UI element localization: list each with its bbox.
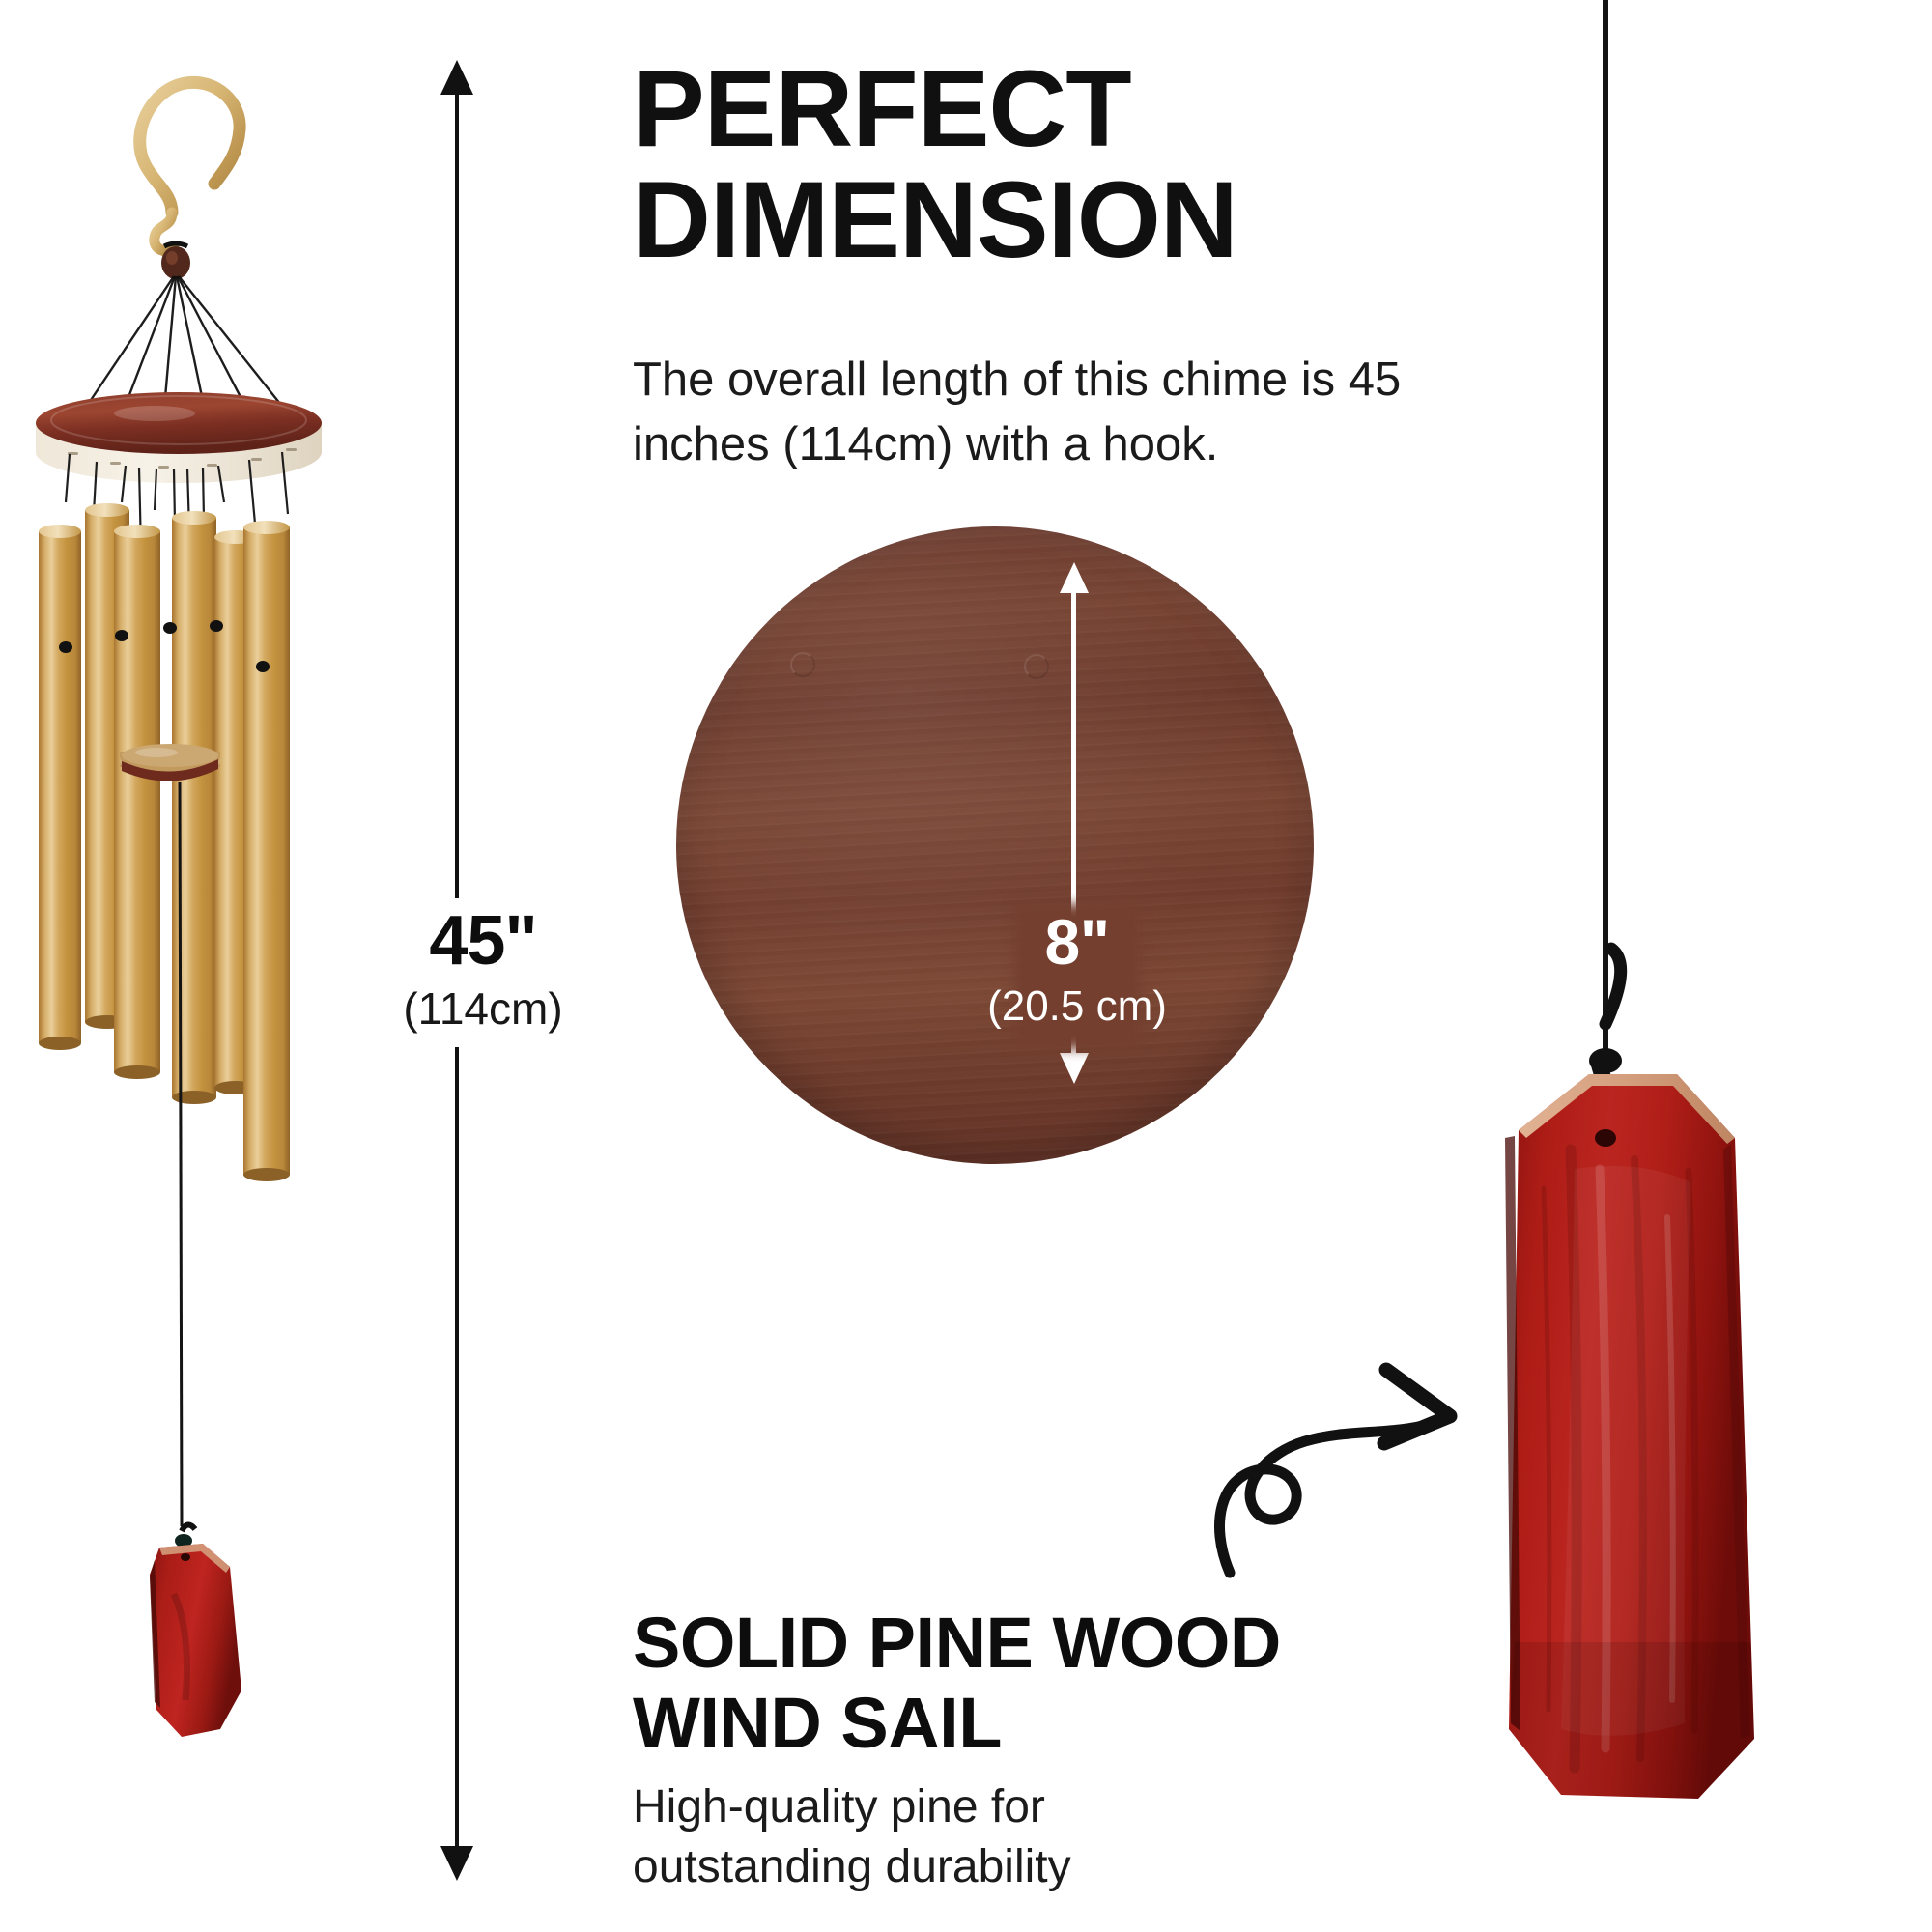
page-title-line1: PERFECT	[633, 48, 1131, 169]
wooden-disc-illustration	[676, 526, 1314, 1164]
red-wind-sail-large	[1505, 1074, 1754, 1799]
arrow-head-down-icon	[440, 1846, 473, 1881]
disc-diameter-value-metric: (20.5 cm)	[894, 981, 1261, 1033]
feature-heading-line2: WIND SAIL	[633, 1683, 1002, 1763]
infographic-canvas: 45" (114cm) PERFECT DIMENSION The overal…	[0, 0, 1932, 1932]
product-photo-wind-sail	[1391, 0, 1835, 1932]
gold-chime-tubes	[39, 503, 290, 1181]
s-hook-icon	[140, 82, 240, 250]
wooden-top-disc	[36, 392, 322, 483]
overall-length-value-metric: (114cm)	[372, 981, 594, 1037]
wood-grain-texture	[676, 526, 1314, 1164]
page-title-line2: DIMENSION	[633, 164, 1435, 275]
page-title: PERFECT DIMENSION	[633, 53, 1435, 276]
feature-description: High-quality pine for outstanding durabi…	[633, 1777, 1232, 1898]
arrow-head-down-icon	[1060, 1053, 1089, 1084]
wood-knot-mark	[1024, 654, 1049, 679]
disc-diameter-label: 8" (20.5 cm)	[894, 910, 1261, 1033]
feature-description-line1: High-quality pine for	[633, 1781, 1045, 1833]
feature-heading-line1: SOLID PINE WOOD	[633, 1603, 1281, 1683]
feature-description-line2: outstanding durability	[633, 1841, 1071, 1892]
feature-heading: SOLID PINE WOOD WIND SAIL	[633, 1604, 1425, 1764]
wood-knot-mark	[790, 652, 815, 677]
overall-length-value-imperial: 45"	[372, 906, 594, 976]
product-photo-wind-chime	[10, 48, 425, 1884]
overall-length-label: 45" (114cm)	[372, 898, 594, 1047]
red-wind-sail-small	[150, 1524, 241, 1737]
page-subtitle: The overall length of this chime is 45 i…	[633, 348, 1483, 476]
disc-diameter-value-imperial: 8"	[894, 910, 1261, 974]
